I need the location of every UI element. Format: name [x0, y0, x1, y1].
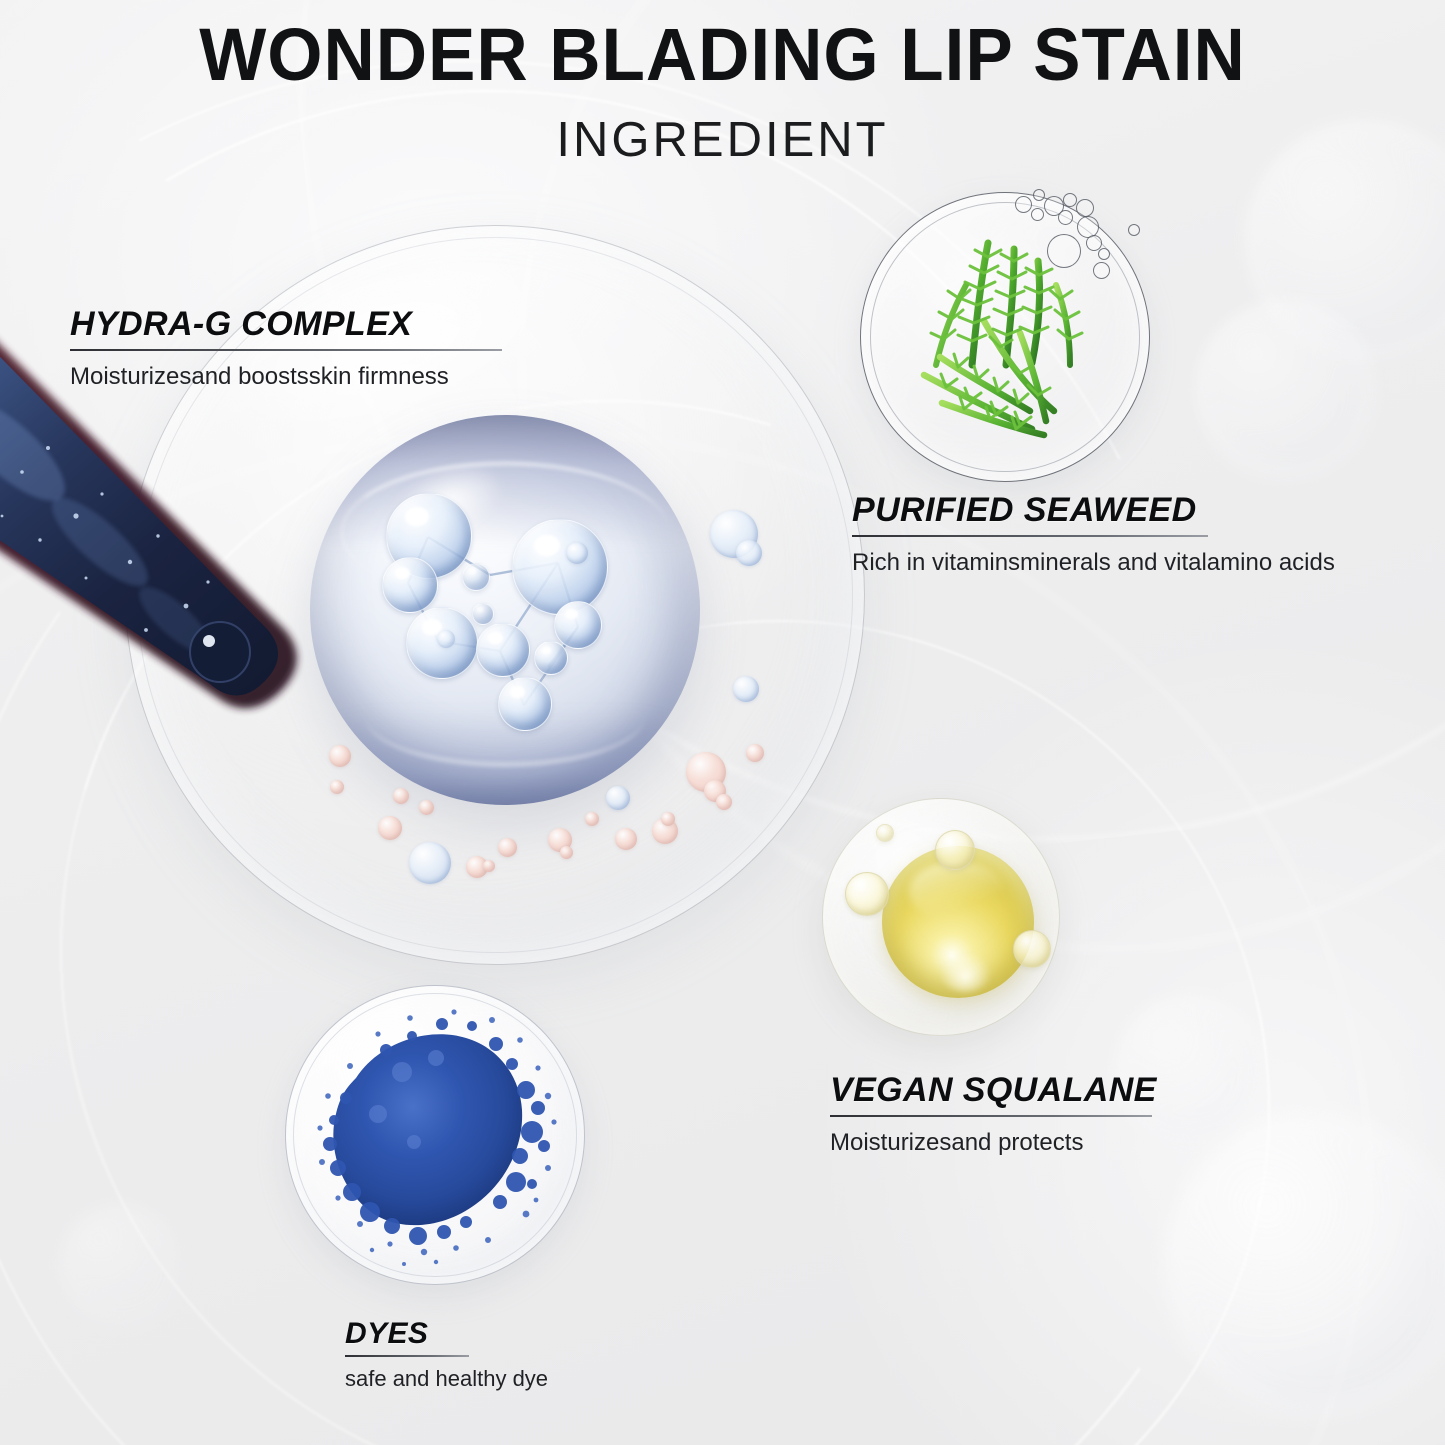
molecule-node-8 — [534, 641, 568, 675]
feature-hydra-g-complex: HYDRA-G COMPLEX Moisturizesand boostsski… — [70, 306, 502, 392]
background-bubble-5 — [60, 1205, 180, 1325]
feature-heading: HYDRA-G COMPLEX — [70, 306, 502, 342]
ingredient-infographic: WONDER BLADING LIP STAIN INGREDIENT HYDR… — [0, 0, 1445, 1445]
feature-rule — [345, 1355, 469, 1357]
feature-description: safe and healthy dye — [345, 1365, 548, 1393]
page-title: WONDER BLADING LIP STAIN — [29, 18, 1416, 92]
squalane-satellite-bubble-4 — [876, 824, 894, 842]
molecule-node-6 — [554, 601, 602, 649]
molecule-node-10 — [472, 603, 494, 625]
molecule-node-7 — [498, 677, 552, 731]
molecule-bonds — [310, 415, 700, 805]
feature-description: Moisturizesand protects — [830, 1128, 1157, 1158]
feature-description: Rich in vitaminsminerals and vitalamino … — [852, 548, 1335, 578]
feature-purified-seaweed: PURIFIED SEAWEED Rich in vitaminsmineral… — [852, 492, 1335, 578]
feature-heading: VEGAN SQUALANE — [830, 1072, 1157, 1108]
squalane-satellite-bubble-3 — [1013, 930, 1051, 968]
molecule-node-2 — [512, 519, 608, 615]
blue-pigment-powder — [286, 986, 585, 1285]
feature-rule — [852, 535, 1208, 537]
hydra-g-water-sphere — [310, 415, 700, 805]
molecule-node-9 — [462, 563, 490, 591]
background-bubble-3 — [1165, 1115, 1445, 1415]
seaweed-illustration — [880, 215, 1130, 465]
molecule-node-3 — [382, 557, 438, 613]
background-bubble-2 — [1195, 300, 1375, 480]
feature-vegan-squalane: VEGAN SQUALANE Moisturizesand protects — [830, 1072, 1157, 1158]
squalane-satellite-bubble-1 — [935, 830, 975, 870]
feature-heading: DYES — [345, 1318, 548, 1350]
feature-dyes: DYES safe and healthy dye — [345, 1318, 548, 1392]
applicator-brush — [0, 330, 360, 780]
feature-rule — [830, 1115, 1152, 1117]
molecule-node-4 — [406, 607, 478, 679]
dye-glass-dish — [285, 985, 585, 1285]
feature-rule — [70, 349, 502, 351]
feature-heading: PURIFIED SEAWEED — [852, 492, 1335, 528]
page-subtitle: INGREDIENT — [0, 116, 1445, 165]
molecule-node-5 — [476, 623, 530, 677]
feature-description: Moisturizesand boostsskin firmness — [70, 362, 502, 392]
squalane-satellite-bubble-2 — [845, 872, 889, 916]
